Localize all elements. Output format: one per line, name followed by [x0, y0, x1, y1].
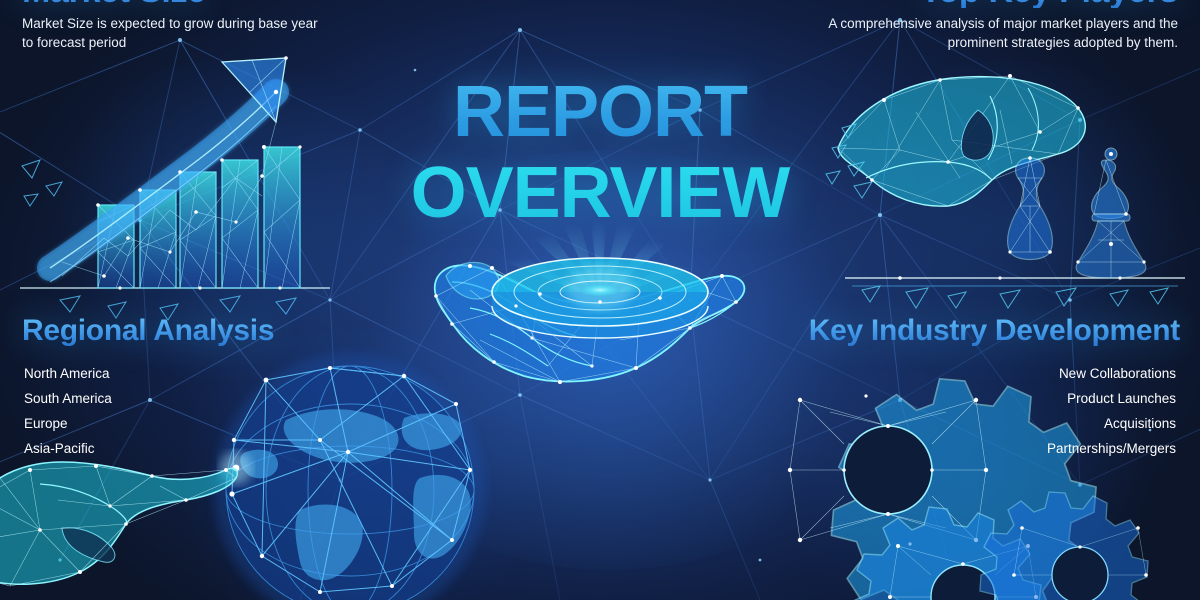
list-item: Partnerships/Mergers: [1047, 441, 1176, 457]
list-item: North America: [24, 366, 110, 382]
list-item: Acquisitions: [1104, 416, 1176, 432]
regional-analysis-heading: Regional Analysis: [22, 316, 274, 346]
list-item: South America: [24, 391, 112, 407]
bottom-left-glow: [150, 330, 570, 600]
infographic-canvas: Market Size Market Size is expected to g…: [0, 0, 1200, 600]
list-item: Asia-Pacific: [24, 441, 95, 457]
top-key-players-subtitle: A comprehensive analysis of major market…: [818, 14, 1178, 52]
market-size-subtitle: Market Size is expected to grow during b…: [22, 14, 322, 52]
list-item: Product Launches: [1067, 391, 1176, 407]
market-size-heading: Market Size: [22, 0, 206, 8]
gear-small: [980, 492, 1148, 600]
gear-medium: [851, 507, 1041, 600]
page-title-line-1: REPORT: [0, 78, 1200, 147]
list-item: Europe: [24, 416, 68, 432]
key-industry-development-heading: Key Industry Development: [809, 316, 1180, 346]
list-item: New Collaborations: [1059, 366, 1176, 382]
page-title-line-2: OVERVIEW: [0, 159, 1200, 228]
page-title: REPORT OVERVIEW: [0, 78, 1200, 228]
top-key-players-heading: Top Key Players: [920, 0, 1178, 8]
gear-large: [788, 379, 1096, 600]
